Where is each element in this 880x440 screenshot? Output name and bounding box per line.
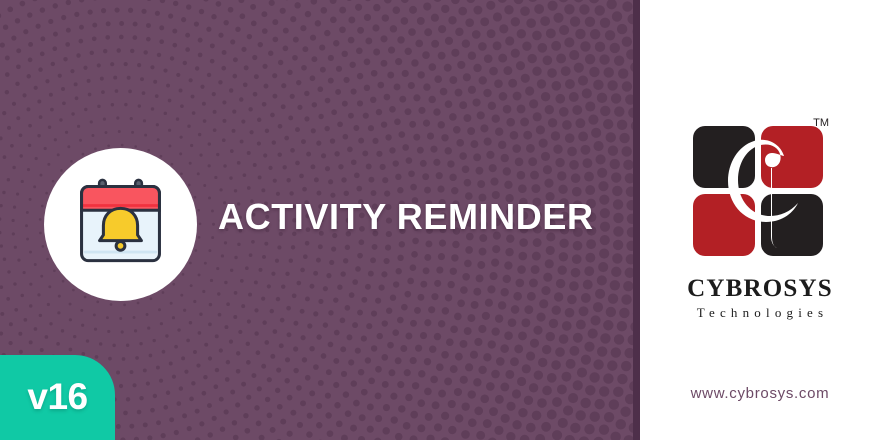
version-badge: v16	[0, 355, 115, 440]
left-purple-panel: ACTIVITY REMINDER v16	[0, 0, 640, 440]
icon-circle-badge	[44, 148, 197, 301]
website-url[interactable]: www.cybrosys.com	[640, 385, 880, 402]
brand-block: TM CYBROSYS Technologies	[640, 112, 880, 321]
panel-divider-edge	[633, 0, 640, 440]
calendar-bell-icon	[73, 177, 168, 272]
right-white-panel: TM CYBROSYS Technologies www.cybrosys.co…	[640, 0, 880, 440]
version-label: v16	[27, 376, 87, 420]
brand-subtitle: Technologies	[640, 305, 880, 321]
activity-reminder-banner: ACTIVITY REMINDER v16 TM	[0, 0, 880, 440]
page-title: ACTIVITY REMINDER	[218, 196, 594, 238]
brand-name: CYBROSYS	[640, 276, 880, 302]
trademark-mark: TM	[813, 117, 829, 129]
brand-mark-wrap: TM	[683, 112, 838, 272]
cybrosys-logo-icon: TM	[683, 112, 838, 272]
